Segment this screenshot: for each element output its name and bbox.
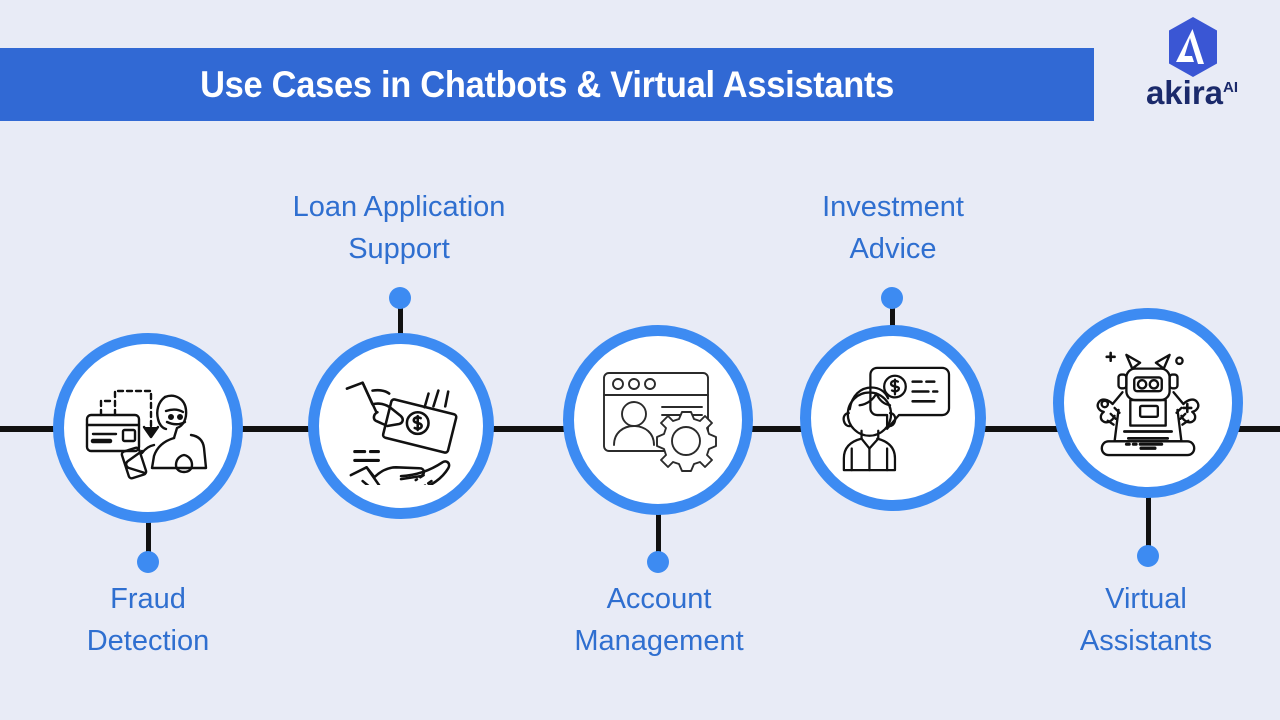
brand-superscript: AI <box>1223 79 1238 96</box>
icon-circle-fraud-detection[interactable] <box>53 333 243 523</box>
page-title-bar: Use Cases in Chatbots & Virtual Assistan… <box>0 48 1094 121</box>
connector-dot <box>389 287 411 309</box>
node-label-fraud-detection: Fraud Detection <box>28 578 268 662</box>
brand-name: akira <box>1146 74 1223 111</box>
node-label-investment-advice: Investment Advice <box>768 186 1018 270</box>
node-label-loan-application-support: Loan Application Support <box>253 186 545 270</box>
icon-circle-virtual-assistants[interactable] <box>1053 308 1243 498</box>
robot-laptop-icon <box>1089 347 1207 460</box>
icon-circle-investment-advice[interactable] <box>800 325 986 511</box>
connector-dot <box>647 551 669 573</box>
hands-money-exchange-icon <box>337 367 465 485</box>
credit-card-hacker-icon <box>83 373 213 483</box>
node-label-account-management: Account Management <box>518 578 800 662</box>
akira-hexagon-icon <box>1164 16 1222 78</box>
node-label-virtual-assistants: Virtual Assistants <box>1026 578 1266 662</box>
browser-user-gear-icon <box>598 365 718 475</box>
brand-wordmark: akiraAI <box>1126 76 1258 109</box>
page-title: Use Cases in Chatbots & Virtual Assistan… <box>200 64 894 106</box>
brand-logo: akiraAI <box>1126 16 1258 116</box>
connector-dot <box>1137 545 1159 567</box>
advisor-speech-dollar-icon <box>834 362 952 475</box>
connector-dot <box>137 551 159 573</box>
connector-dot <box>881 287 903 309</box>
icon-circle-account-management[interactable] <box>563 325 753 515</box>
connector-stem <box>1146 497 1151 552</box>
icon-circle-loan-application-support[interactable] <box>308 333 494 519</box>
